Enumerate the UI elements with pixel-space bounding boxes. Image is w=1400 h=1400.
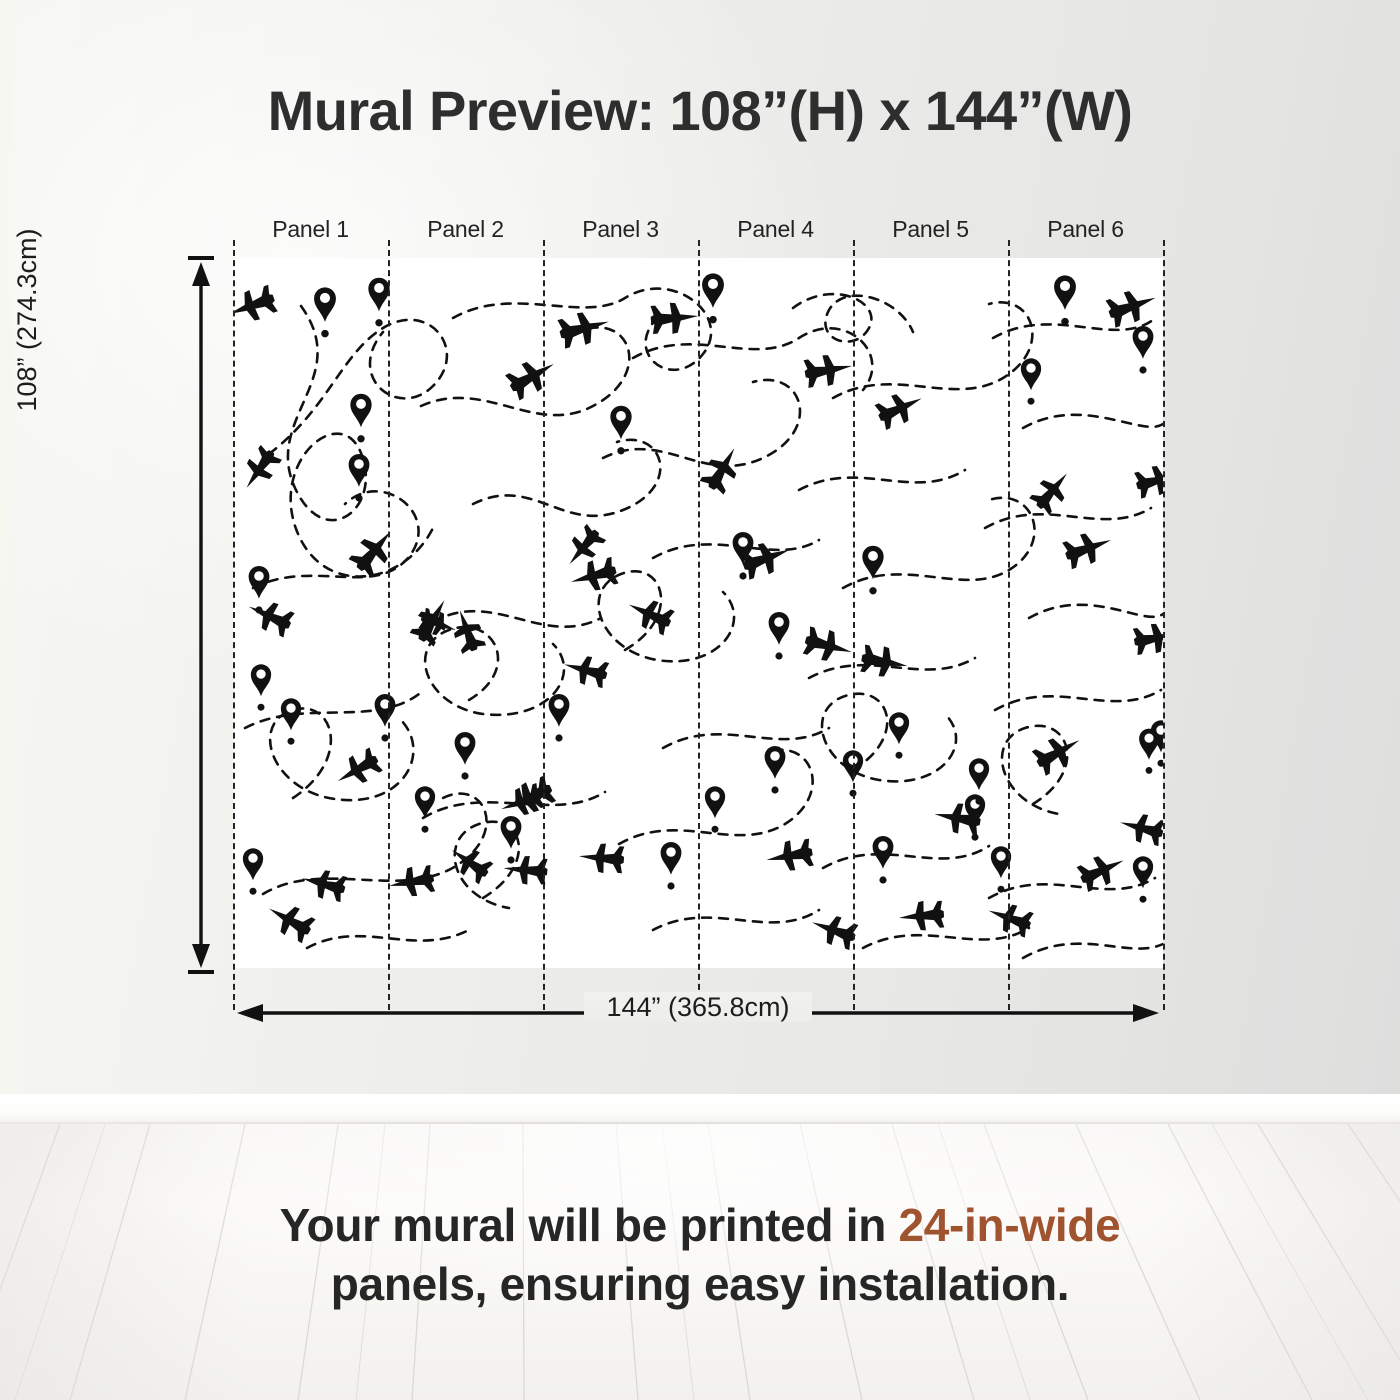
mural-artwork [233,258,1163,968]
mural-preview-scene: Mural Preview: 108”(H) x 144”(W) Panel 1… [0,0,1400,1400]
panel-label-6: Panel 6 [1008,216,1163,248]
page-title: Mural Preview: 108”(H) x 144”(W) [0,78,1400,143]
caption-line-1: Your mural will be printed in 24-in-wide [0,1196,1400,1255]
panel-label-3: Panel 3 [543,216,698,248]
width-dimension-text: 144” (365.8cm) [584,992,811,1022]
panel-label-1: Panel 1 [233,216,388,248]
width-dimension-label: 144” (365.8cm) [233,992,1163,1023]
panel-label-row: Panel 1 Panel 2 Panel 3 Panel 4 Panel 5 … [233,216,1163,248]
panel-label-2: Panel 2 [388,216,543,248]
panel-label-4: Panel 4 [698,216,853,248]
height-dimension-arrow [170,250,230,980]
caption-line-2: panels, ensuring easy installation. [0,1255,1400,1314]
height-dimension-label: 108” (274.3cm) [12,160,43,480]
caption-text: Your mural will be printed in 24-in-wide… [0,1196,1400,1314]
panel-label-5: Panel 5 [853,216,1008,248]
caption-accent-panel-width: 24-in-wide [898,1199,1120,1251]
caption-line-1-prefix: Your mural will be printed in [280,1199,899,1251]
